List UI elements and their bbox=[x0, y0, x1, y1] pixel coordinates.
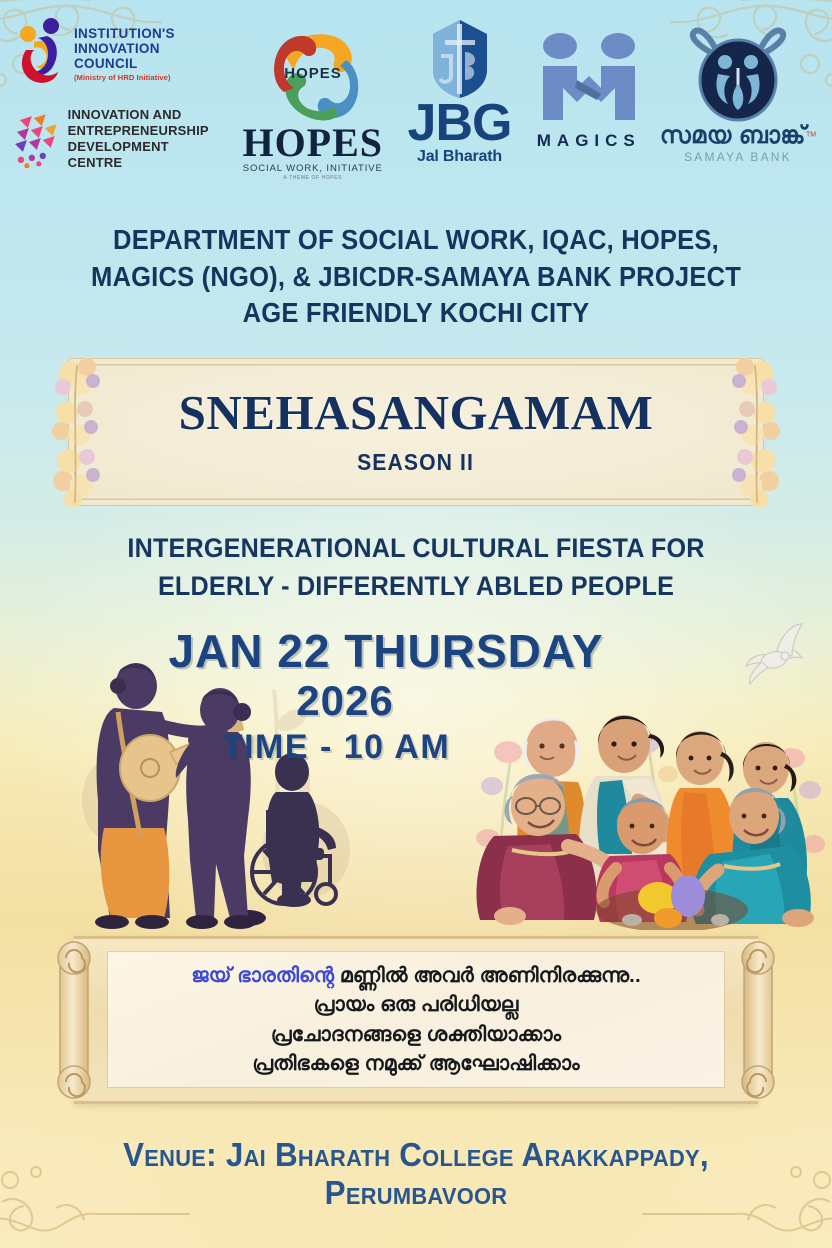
hopes-mark-icon: HOPES bbox=[254, 20, 372, 128]
iedc-line-2: ENTREPRENEURSHIP bbox=[68, 123, 226, 139]
magics-mark-icon bbox=[535, 32, 643, 124]
illustration-silhouette-group bbox=[78, 650, 378, 930]
iic-mark-icon bbox=[14, 14, 70, 94]
jbg-mark-icon bbox=[421, 18, 499, 100]
scroll-banner: ജയ് ഭാരതിന്റെ മണ്ണിൽ അവർ അണിനിരക്കുന്നു.… bbox=[46, 920, 786, 1120]
malayalam-line-3: പ്രചോദനങ്ങളെ ശക്തിയാക്കാം bbox=[271, 1020, 561, 1049]
malayalam-highlight: ജയ് ഭാരതിന്റെ bbox=[191, 964, 334, 987]
iedc-mark-icon bbox=[14, 110, 60, 168]
iic-line-2: INNOVATION bbox=[74, 41, 175, 56]
department-line-1: DEPARTMENT OF SOCIAL WORK, IQAC, HOPES, bbox=[29, 222, 803, 259]
logo-iic: INSTITUTION'S INNOVATION COUNCIL (Minist… bbox=[14, 14, 226, 94]
venue-text: Venue: Jai Bharath College Arakkappady, … bbox=[21, 1136, 811, 1211]
jbg-wordmark: JBG bbox=[408, 101, 512, 147]
logo-jbg: JBG Jal Bharath bbox=[400, 18, 520, 166]
hopes-wordmark: HOPES bbox=[242, 124, 383, 162]
iic-line-1: INSTITUTION'S bbox=[74, 26, 175, 41]
logo-magics: MAGICS bbox=[524, 32, 654, 151]
samaya-bank-english: SAMAYA BANK bbox=[684, 150, 792, 164]
hopes-tagline-secondary: A THEME OF HOPES bbox=[283, 175, 342, 181]
subtitle-line-2: ELDERLY - DIFFERENTLY ABLED PEOPLE bbox=[21, 568, 811, 606]
subtitle-line-1: INTERGENERATIONAL CULTURAL FIESTA FOR bbox=[21, 530, 811, 568]
event-poster: INSTITUTION'S INNOVATION COUNCIL (Minist… bbox=[0, 0, 832, 1248]
iedc-line-1: INNOVATION AND bbox=[68, 107, 226, 123]
sponsor-logo-row: INSTITUTION'S INNOVATION COUNCIL (Minist… bbox=[0, 14, 832, 204]
logo-group-iic-iedc: INSTITUTION'S INNOVATION COUNCIL (Minist… bbox=[14, 14, 226, 170]
event-season: SEASON II bbox=[358, 449, 475, 476]
logo-samaya-bank: സമയ ബാങ്ക്TM SAMAYA BANK bbox=[658, 24, 818, 164]
svg-text:HOPES: HOPES bbox=[284, 65, 342, 82]
samaya-bank-mark-icon bbox=[684, 24, 792, 124]
title-banner: SNEHASANGAMAM SEASON II bbox=[68, 358, 764, 506]
venue-line-1: Venue: Jai Bharath College Arakkappady, bbox=[21, 1136, 811, 1174]
event-subtitle: INTERGENERATIONAL CULTURAL FIESTA FOR EL… bbox=[21, 530, 811, 605]
malayalam-line-4: പ്രതിഭകളെ നമുക്ക് ആഘോഷിക്കാം bbox=[252, 1049, 579, 1078]
scroll-text-panel: ജയ് ഭാരതിന്റെ മണ്ണിൽ അവർ അണിനിരക്കുന്നു.… bbox=[108, 952, 724, 1087]
dove-icon bbox=[736, 618, 810, 690]
department-headline: DEPARTMENT OF SOCIAL WORK, IQAC, HOPES, … bbox=[29, 222, 803, 332]
malayalam-line-2: പ്രായം ഒരു പരിധിയല്ല bbox=[314, 990, 519, 1019]
malayalam-line-1-rest: മണ്ണിൽ അവർ അണിനിരക്കുന്നു.. bbox=[334, 964, 641, 987]
department-line-3: AGE FRIENDLY KOCHI CITY bbox=[29, 295, 803, 332]
department-line-2: MAGICS (NGO), & JBICDR-SAMAYA BANK PROJE… bbox=[29, 259, 803, 296]
iic-line-3: COUNCIL bbox=[74, 56, 175, 71]
logo-hopes: HOPES HOPES SOCIAL WORK, INITIATIVE A TH… bbox=[230, 20, 395, 181]
malayalam-line-1: ജയ് ഭാരതിന്റെ മണ്ണിൽ അവർ അണിനിരക്കുന്നു.… bbox=[191, 961, 641, 990]
scroll-roll-left-icon bbox=[54, 936, 94, 1104]
samaya-bank-tm: TM bbox=[806, 132, 816, 139]
venue-line-2: Perumbavoor bbox=[21, 1174, 811, 1212]
iedc-line-3: DEVELOPMENT CENTRE bbox=[68, 139, 226, 171]
logo-iedc: INNOVATION AND ENTREPRENEURSHIP DEVELOPM… bbox=[14, 107, 226, 170]
jbg-subtitle: Jal Bharath bbox=[417, 148, 502, 166]
samaya-bank-malayalam: സമയ ബാങ്ക് bbox=[660, 122, 806, 149]
iic-subtitle: (Ministry of HRD Initiative) bbox=[74, 73, 175, 82]
scroll-roll-right-icon bbox=[738, 936, 778, 1104]
magics-wordmark: MAGICS bbox=[537, 131, 641, 151]
event-title: SNEHASANGAMAM bbox=[179, 388, 654, 437]
hopes-tagline: SOCIAL WORK, INITIATIVE bbox=[243, 163, 383, 174]
